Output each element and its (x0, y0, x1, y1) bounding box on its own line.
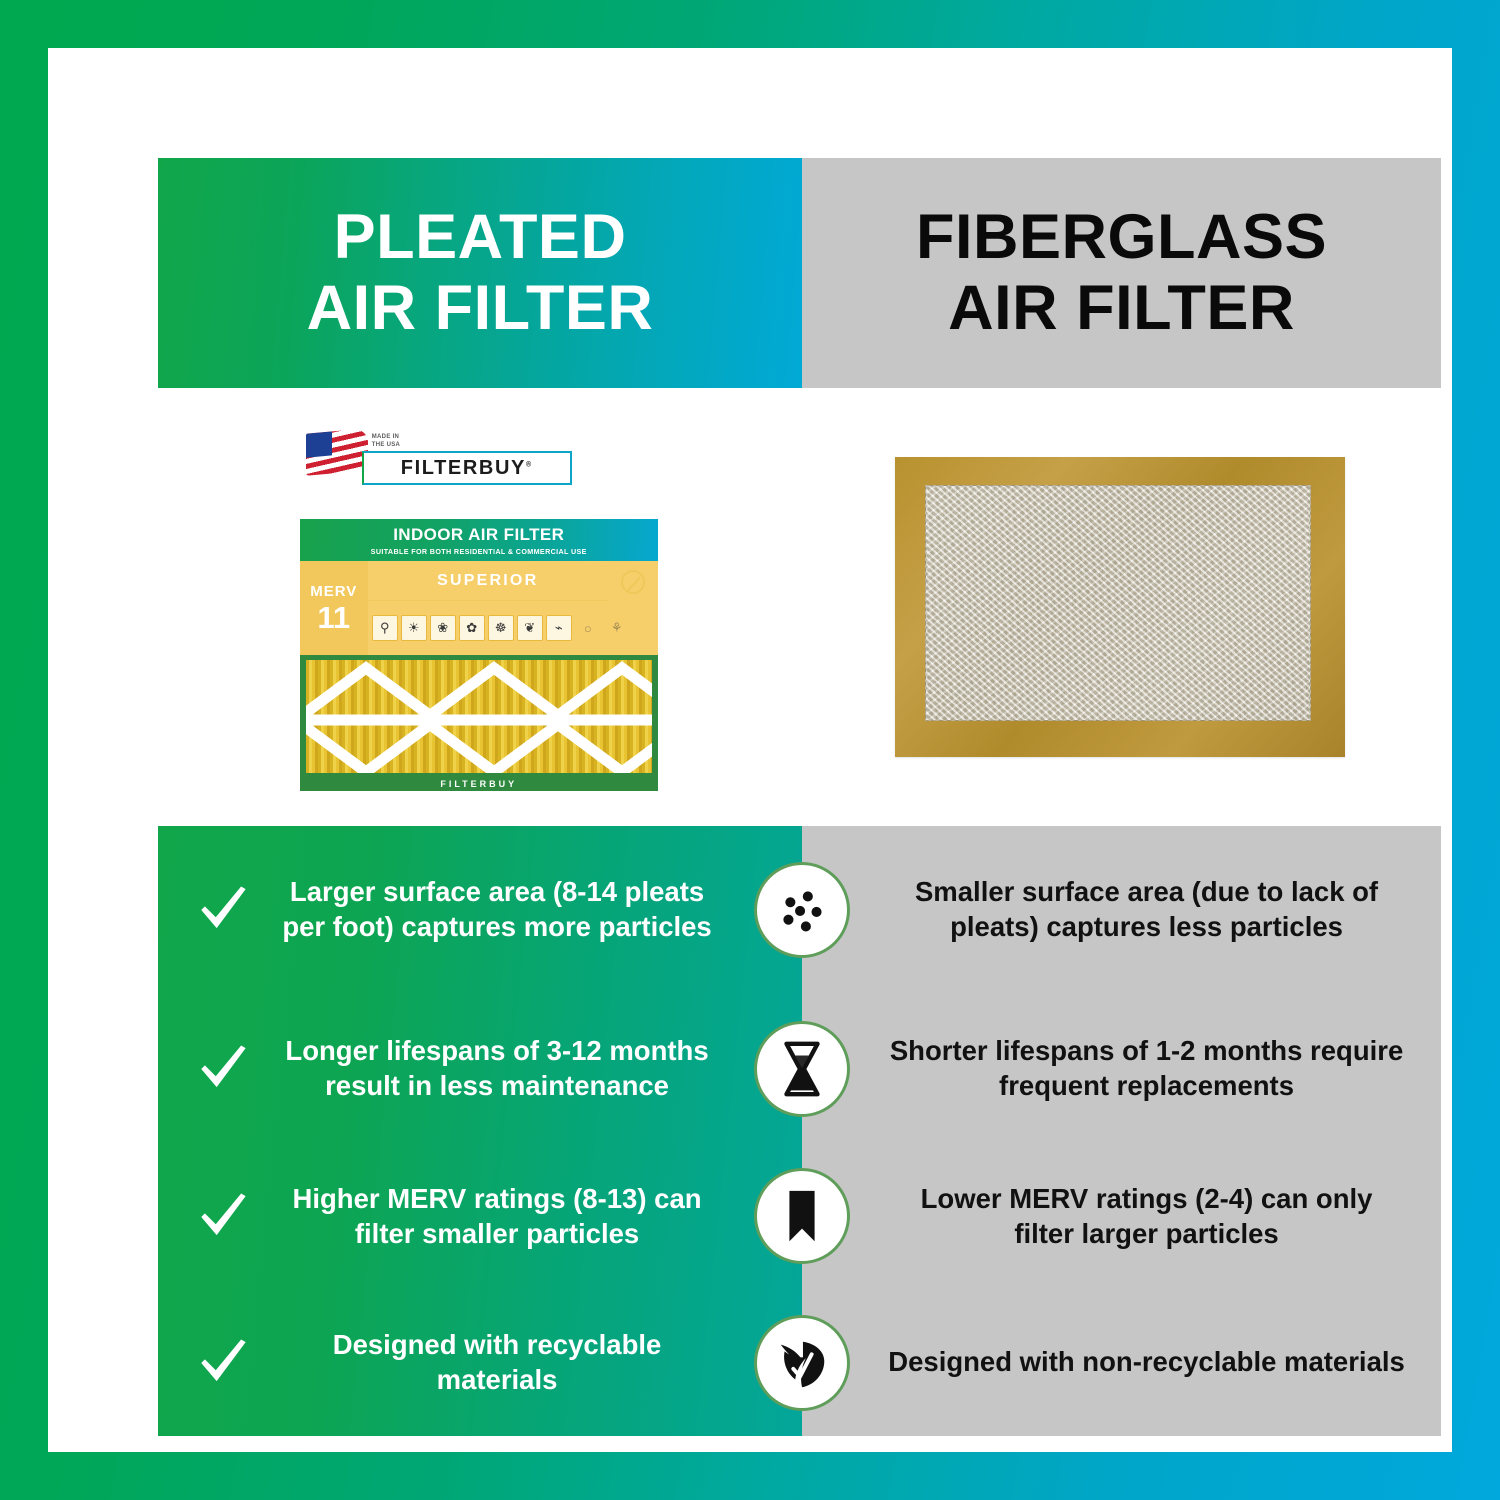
fiberglass-media-texture (925, 485, 1311, 721)
filterbuy-logo: FILTERBUY® (362, 451, 572, 485)
header-right-fiberglass: FIBERGLASS AIR FILTER (802, 158, 1441, 388)
row-1-left-text: Larger surface area (8-14 pleats per foo… (278, 875, 716, 945)
fiberglass-title-line1: FIBERGLASS (916, 202, 1327, 273)
pet-dander-icon: ❦ (517, 615, 543, 641)
checkmark-icon (194, 1040, 252, 1098)
row-3-left-text: Higher MERV ratings (8-13) can filter sm… (278, 1182, 716, 1252)
pollen-icon: ❀ (430, 615, 456, 641)
smoke-icon: ⌁ (546, 615, 572, 641)
row-right-4: Designed with non-recyclable materials (802, 1289, 1441, 1436)
row-right-3: Lower MERV ratings (2-4) can only filter… (802, 1144, 1441, 1289)
leaf-recycle-glyph (771, 1332, 833, 1394)
hourglass-icon (754, 1021, 850, 1117)
voc-icon: ⚘ (604, 615, 630, 641)
bacteria-icon: ☸ (488, 615, 514, 641)
seal-ring (621, 570, 645, 594)
row-right-1: Smaller surface area (due to lack of ple… (802, 826, 1441, 994)
merv-value: 11 (317, 602, 350, 633)
bookmark-icon (754, 1168, 850, 1264)
mold-spores-icon: ✿ (459, 615, 485, 641)
row-4-left-text: Designed with recyclable materials (278, 1328, 716, 1398)
pleated-product-cell: MADE IN THE USA FILTERBUY® INDOOR AIR FI… (158, 388, 800, 826)
merv-gold-band: MERV 11 SUPERIOR ⚲ ☀ (300, 561, 658, 655)
hourglass-glyph (771, 1038, 833, 1100)
row-left-1: Larger surface area (8-14 pleats per foo… (158, 826, 802, 994)
made-in-usa-label: MADE IN THE USA (372, 433, 400, 449)
checkmark-icon (194, 881, 252, 939)
row-left-2: Longer lifespans of 3-12 months result i… (158, 994, 802, 1144)
brand-word: FILTERBUY (401, 457, 526, 479)
row-4-right-text: Designed with non-recyclable materials (888, 1345, 1405, 1380)
fiberglass-title-line2: AIR FILTER (916, 273, 1327, 344)
filterbuy-logo-text: FILTERBUY® (401, 457, 533, 480)
checkmark-icon (194, 1334, 252, 1392)
particles-dots-icon (754, 862, 850, 958)
row-2-right-text: Shorter lifespans of 1-2 months require … (888, 1034, 1405, 1104)
particles-dots-glyph (771, 879, 833, 941)
row-right-2: Shorter lifespans of 1-2 months require … (802, 994, 1441, 1144)
header-left-pleated: PLEATED AIR FILTER (158, 158, 802, 388)
dust-mite-icon: ☀ (401, 615, 427, 641)
row-left-3: Higher MERV ratings (8-13) can filter sm… (158, 1144, 802, 1289)
made-in-line2: THE USA (372, 441, 400, 449)
fiberglass-air-filter-image (895, 457, 1345, 757)
diamond-support-mesh-icon (306, 660, 652, 773)
dust-icon: ⚲ (372, 615, 398, 641)
leaf-recycle-icon (754, 1315, 850, 1411)
row-2-left-text: Longer lifespans of 3-12 months result i… (278, 1034, 716, 1104)
row-1-right-text: Smaller surface area (due to lack of ple… (888, 875, 1405, 945)
header-band: PLEATED AIR FILTER FIBERGLASS AIR FILTER (158, 158, 1441, 388)
pleated-title-line2: AIR FILTER (307, 273, 654, 344)
odor-icon: ○ (575, 615, 601, 641)
box-bottom-brand: FILTERBUY (300, 779, 658, 789)
pleated-title: PLEATED AIR FILTER (307, 202, 654, 343)
product-image-row: MADE IN THE USA FILTERBUY® INDOOR AIR FI… (158, 388, 1441, 826)
usa-flag-icon (306, 428, 368, 475)
merv-label: MERV (310, 583, 357, 600)
bookmark-glyph (771, 1185, 833, 1247)
feature-icon-strip: ⚲ ☀ ❀ ✿ ☸ ❦ ⌁ ○ ⚘ (372, 605, 654, 651)
banner-subtitle: SUITABLE FOR BOTH RESIDENTIAL & COMMERCI… (371, 547, 587, 556)
registered-mark: ® (526, 461, 533, 468)
certification-seal-icon (614, 567, 652, 597)
pleated-media-texture (306, 660, 652, 773)
merv-badge: MERV 11 (300, 561, 368, 655)
checkmark-icon (194, 1188, 252, 1246)
pleated-title-line1: PLEATED (307, 202, 654, 273)
fiberglass-product-cell (800, 388, 1442, 826)
row-left-4: Designed with recyclable materials (158, 1289, 802, 1436)
banner-title: INDOOR AIR FILTER (393, 525, 564, 545)
pleated-air-filter-box-image: MADE IN THE USA FILTERBUY® INDOOR AIR FI… (300, 423, 658, 791)
made-in-line1: MADE IN (372, 433, 400, 441)
tier-row: SUPERIOR (368, 561, 608, 601)
pleated-media-area: FILTERBUY (300, 655, 658, 791)
row-3-right-text: Lower MERV ratings (2-4) can only filter… (888, 1182, 1405, 1252)
comparison-rows: Larger surface area (8-14 pleats per foo… (158, 826, 1441, 1436)
outer-gradient-frame: PLEATED AIR FILTER FIBERGLASS AIR FILTER (0, 0, 1500, 1500)
indoor-air-filter-banner: INDOOR AIR FILTER SUITABLE FOR BOTH RESI… (300, 519, 658, 561)
infographic-canvas: PLEATED AIR FILTER FIBERGLASS AIR FILTER (158, 158, 1441, 1436)
tier-label: SUPERIOR (437, 572, 538, 590)
fiberglass-title: FIBERGLASS AIR FILTER (916, 202, 1327, 343)
white-matte: PLEATED AIR FILTER FIBERGLASS AIR FILTER (48, 48, 1452, 1452)
